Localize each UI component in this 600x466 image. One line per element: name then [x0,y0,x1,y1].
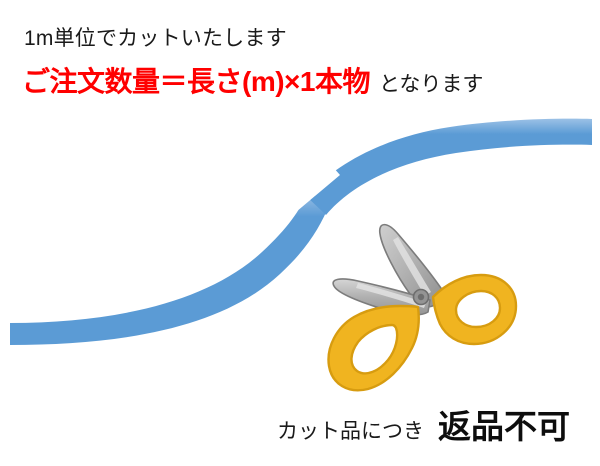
scissor-handle-left [329,306,419,390]
order-formula-line: ご注文数量＝長さ(m)×1本物 となります [22,68,483,96]
scissors [329,225,516,391]
order-formula-emphasis: ご注文数量＝長さ(m)×1本物 [22,68,370,96]
no-return-emphasis: 返品不可 [438,410,570,443]
order-formula-suffix: となります [379,74,483,95]
scissor-handle-right [433,275,516,344]
cable-lower-segment [10,192,330,345]
no-return-line: カット品につき 返品不可 [277,410,570,443]
no-return-lead-text: カット品につき [277,421,424,442]
cut-unit-line: 1m単位でカットいたします [24,28,287,49]
scissor-pivot-center [418,294,424,300]
cable-upper-segment [306,119,592,215]
cut-service-notice-graphic: 1m単位でカットいたします ご注文数量＝長さ(m)×1本物 となります カット品… [0,0,600,466]
